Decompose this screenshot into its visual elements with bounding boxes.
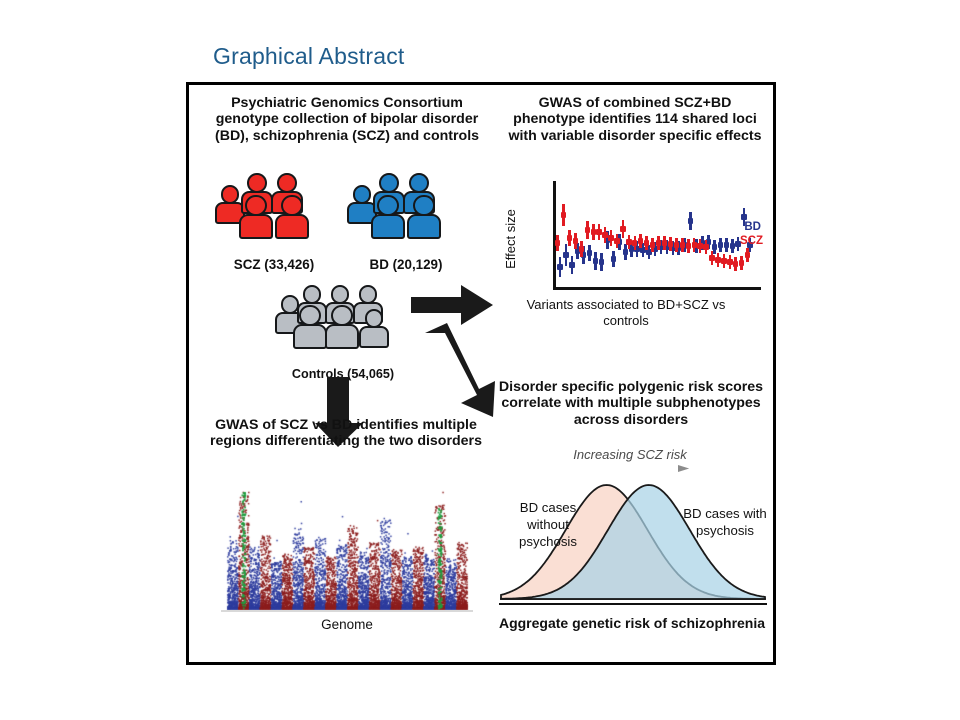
forest-point-marker <box>567 235 572 240</box>
forest-point-marker <box>718 242 723 247</box>
forest-point-marker <box>686 243 691 248</box>
forest-point-marker <box>569 262 574 267</box>
forest-point-marker <box>555 240 560 245</box>
forest-point-marker <box>741 214 746 219</box>
forest-point-marker <box>596 229 601 234</box>
forest-point-marker <box>602 232 607 237</box>
forest-point-marker <box>579 246 584 251</box>
forest-x-axis <box>553 287 761 290</box>
graphical-abstract-frame: Psychiatric Genomics Consortium genotype… <box>186 82 776 665</box>
person-body-icon <box>359 326 389 348</box>
forest-point-marker <box>591 229 596 234</box>
person-head-icon <box>245 195 266 216</box>
forest-point-marker <box>733 261 738 266</box>
forest-point-marker <box>739 260 744 265</box>
panel-polygenic-risk: Disorder specific polygenic risk scores … <box>489 375 775 665</box>
forest-point-marker <box>697 243 702 248</box>
person-body-icon <box>407 214 441 239</box>
forest-point-marker <box>644 240 649 245</box>
manhattan-canvas <box>221 487 473 612</box>
manhattan-baseline <box>221 610 473 612</box>
forest-point-marker <box>730 243 735 248</box>
person-head-icon <box>247 173 267 193</box>
panel-scz-vs-bd-gwas: GWAS of SCZ vs BD identifies multiple re… <box>193 417 499 663</box>
person-head-icon <box>359 285 378 304</box>
forest-point-marker <box>650 242 655 247</box>
effect-size-forest-plot: Effect size BD SCZ <box>531 181 763 301</box>
forest-point-marker <box>674 242 679 247</box>
forest-point-marker <box>715 257 720 262</box>
forest-point-marker <box>599 259 604 264</box>
forest-point-marker <box>557 264 562 269</box>
manhattan-plot <box>221 487 473 612</box>
person-head-icon <box>331 305 352 326</box>
forest-point-marker <box>632 240 637 245</box>
forest-point-marker <box>668 241 673 246</box>
density-label-without-psychosis: BD cases without psychosis <box>501 499 595 550</box>
forest-x-axis-label: Variants associated to BD+SCZ vs control… <box>519 297 733 328</box>
arrow-to-panel-b-icon <box>411 283 495 327</box>
forest-point-marker <box>611 256 616 261</box>
person-body-icon <box>293 324 327 349</box>
person-head-icon <box>379 173 399 193</box>
forest-point-marker <box>563 252 568 257</box>
forest-point-marker <box>688 218 693 223</box>
legend-item-scz: SCZ <box>740 235 763 247</box>
panel-b-heading: GWAS of combined SCZ+BD phenotype identi… <box>501 95 769 144</box>
person-body-icon <box>371 214 405 239</box>
density-label-with-psychosis: BD cases with psychosis <box>679 505 771 539</box>
person-head-icon <box>413 195 434 216</box>
person-head-icon <box>409 173 429 193</box>
forest-point-marker <box>703 244 708 249</box>
panel-a-heading: Psychiatric Genomics Consortium genotype… <box>199 95 495 144</box>
person-head-icon <box>377 195 398 216</box>
forest-point-marker <box>692 242 697 247</box>
polygenic-risk-density-plot: BD cases without psychosis BD cases with… <box>495 471 771 611</box>
panel-d-heading: Disorder specific polygenic risk scores … <box>489 379 773 428</box>
people-group-controls <box>275 283 411 365</box>
people-group-scz <box>215 171 333 253</box>
forest-point-marker <box>623 249 628 254</box>
person-body-icon <box>275 214 309 239</box>
legend-item-bd: BD <box>744 221 761 233</box>
forest-point-marker <box>712 244 717 249</box>
forest-point-marker <box>585 227 590 232</box>
forest-point-marker <box>593 258 598 263</box>
density-x-axis <box>499 603 767 605</box>
density-x-axis-label: Aggregate genetic risk of schizophrenia <box>489 615 775 632</box>
label-scz: SCZ (33,426) <box>207 257 341 272</box>
increasing-risk-label: Increasing SCZ risk <box>515 447 745 462</box>
person-head-icon <box>299 305 320 326</box>
forest-point-marker <box>587 250 592 255</box>
forest-point-marker <box>638 238 643 243</box>
forest-point-marker <box>724 242 729 247</box>
panel-shared-loci: GWAS of combined SCZ+BD phenotype identi… <box>501 85 773 385</box>
person-body-icon <box>239 214 273 239</box>
label-bd: BD (20,129) <box>341 257 471 272</box>
person-body-icon <box>325 324 359 349</box>
people-group-bd <box>347 171 465 253</box>
forest-point-marker <box>709 255 714 260</box>
person-head-icon <box>221 185 240 204</box>
person-head-icon <box>303 285 322 304</box>
forest-y-axis <box>553 181 556 289</box>
forest-point-marker <box>561 212 566 217</box>
person-head-icon <box>277 173 297 193</box>
forest-point-marker <box>626 239 631 244</box>
forest-point-marker <box>745 252 750 257</box>
forest-point-marker <box>620 226 625 231</box>
panel-c-heading: GWAS of SCZ vs BD identifies multiple re… <box>196 417 496 450</box>
forest-point-marker <box>614 238 619 243</box>
manhattan-x-axis-label: Genome <box>221 617 473 632</box>
forest-point-marker <box>680 242 685 247</box>
forest-point-marker <box>662 240 667 245</box>
forest-point-marker <box>573 238 578 243</box>
person-head-icon <box>365 309 384 328</box>
forest-point-marker <box>727 259 732 264</box>
person-head-icon <box>353 185 372 204</box>
forest-y-axis-label: Effect size <box>503 189 519 289</box>
forest-point-marker <box>608 235 613 240</box>
page-title: Graphical Abstract <box>213 43 405 70</box>
person-head-icon <box>281 195 302 216</box>
forest-point-marker <box>721 258 726 263</box>
forest-point-marker <box>656 240 661 245</box>
person-head-icon <box>331 285 350 304</box>
